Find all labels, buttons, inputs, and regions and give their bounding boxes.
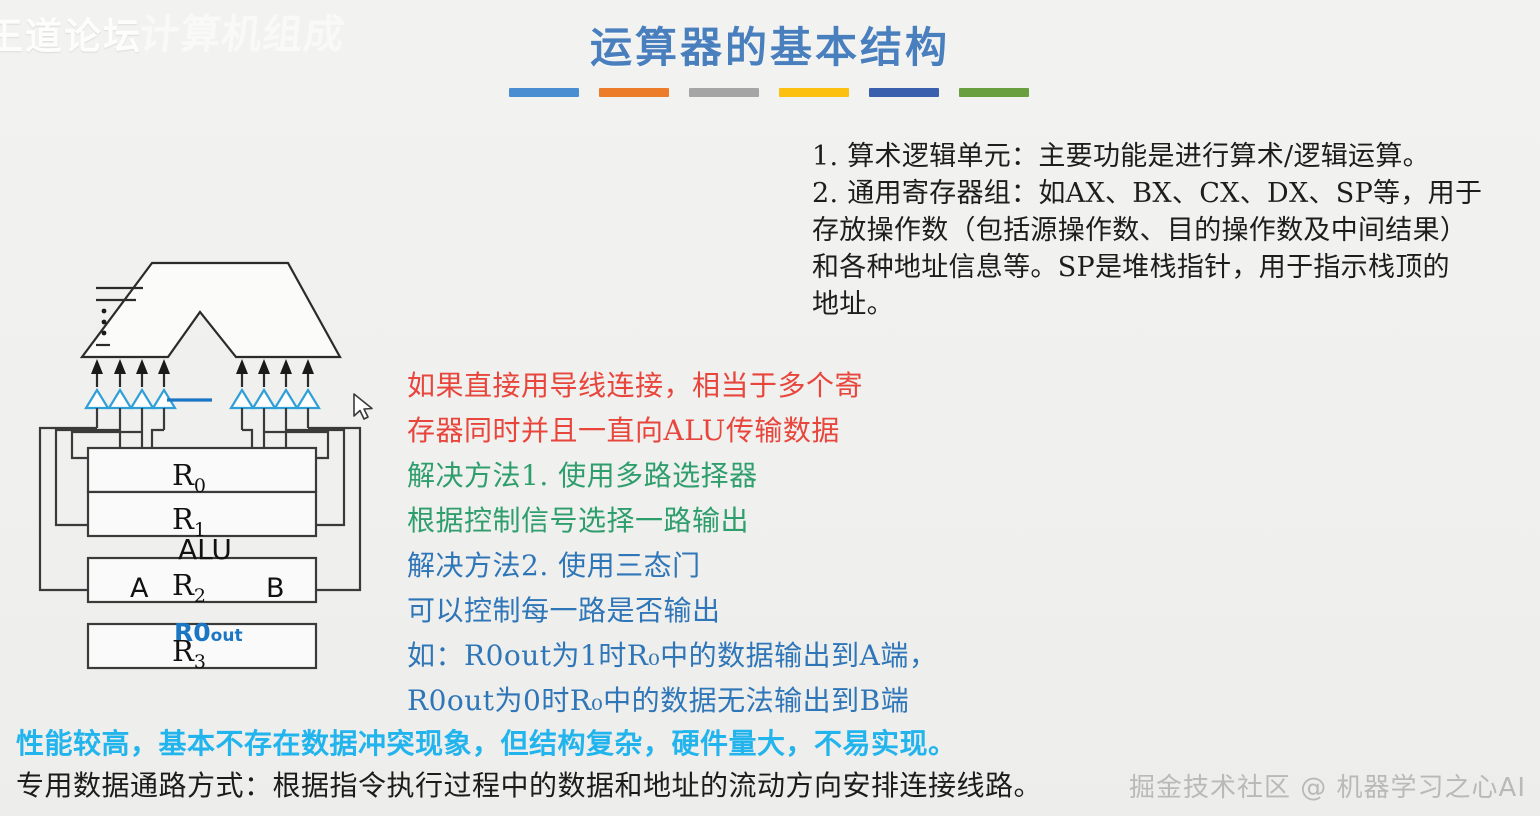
note-line-3: 存放操作数（包括源操作数、目的操作数及中间结果） [812, 212, 1540, 249]
alu-input-arrows-b [242, 363, 308, 387]
annotation-blue: 解决方法2. 使用三态门 可以控制每一路是否输出 如：R0out为1时R₀中的数… [407, 543, 937, 723]
note-line-1: 1. 算术逻辑单元：主要功能是进行算术/逻辑运算。 [812, 138, 1540, 175]
annotation-red: 如果直接用导线连接，相当于多个寄 存器同时并且一直向ALU传输数据 [407, 363, 863, 453]
annotation-green-line-2: 根据控制信号选择一路输出 [407, 498, 758, 543]
register-name-3: R [172, 634, 194, 668]
arrowheads [91, 359, 314, 374]
notes-block: 1. 算术逻辑单元：主要功能是进行算术/逻辑运算。 2. 通用寄存器组：如AX、… [812, 138, 1540, 323]
register-index-2: 2 [194, 585, 206, 607]
register-index-0: 0 [194, 475, 206, 497]
register-label-0: R0 [64, 458, 314, 497]
register-name-1: R [172, 502, 194, 536]
annotation-red-line-2: 存器同时并且一直向ALU传输数据 [407, 408, 863, 453]
rule-segment-5 [869, 88, 939, 97]
slide-canvas: 王道论坛 计算机组成 掘金技术社区 @ 机器学习之心AI 运算器的基本结构 1.… [0, 0, 1540, 816]
note-line-4: 和各种地址信息等。SP是堆栈指针，用于指示栈顶的 [812, 249, 1540, 286]
alu-body [82, 263, 340, 357]
summary-line-performance: 性能较高，基本不存在数据冲突现象，但结构复杂，硬件量大，不易实现。 [16, 722, 957, 762]
rule-segment-2 [599, 88, 669, 97]
rule-segment-3 [689, 88, 759, 97]
title-rule [509, 88, 1029, 97]
register-label-2: R2 [64, 568, 314, 607]
annotation-blue-line-2: 可以控制每一路是否输出 [407, 588, 937, 633]
note-line-2: 2. 通用寄存器组：如AX、BX、CX、DX、SP等，用于 [812, 175, 1540, 212]
tristate-gates-b [231, 390, 319, 408]
tristate-gates-a [86, 390, 175, 408]
register-name-2: R [172, 568, 194, 602]
register-index-3: 3 [194, 651, 206, 673]
annotation-blue-line-1: 解决方法2. 使用三态门 [407, 543, 937, 588]
annotation-blue-line-4: R0out为0时R₀中的数据无法输出到B端 [407, 678, 937, 723]
mouse-cursor [352, 392, 378, 426]
register-name-0: R [172, 458, 194, 492]
annotation-red-line-1: 如果直接用导线连接，相当于多个寄 [407, 363, 863, 408]
summary-line-datapath: 专用数据通路方式：根据指令执行过程中的数据和地址的流动方向安排连接线路。 [16, 764, 1042, 804]
slide-title: 运算器的基本结构 [0, 14, 1540, 75]
note-line-5: 地址。 [812, 286, 1540, 323]
register-label-3: R3 [64, 634, 314, 673]
alu-input-arrows-a [97, 363, 164, 387]
register-index-1: 1 [194, 519, 206, 541]
rule-segment-1 [509, 88, 579, 97]
watermark-bottom-right: 掘金技术社区 @ 机器学习之心AI [1129, 767, 1526, 804]
register-label-1: R1 [64, 502, 314, 541]
ellipsis-dots [102, 309, 107, 336]
annotation-green-line-1: 解决方法1. 使用多路选择器 [407, 453, 758, 498]
rule-segment-6 [959, 88, 1029, 97]
rule-segment-4 [779, 88, 849, 97]
annotation-blue-line-3: 如：R0out为1时R₀中的数据输出到A端， [407, 633, 937, 678]
alu-register-diagram: ALU A B R0out R0 R1 R2 R3 [0, 240, 400, 710]
annotation-green: 解决方法1. 使用多路选择器 根据控制信号选择一路输出 [407, 453, 758, 543]
